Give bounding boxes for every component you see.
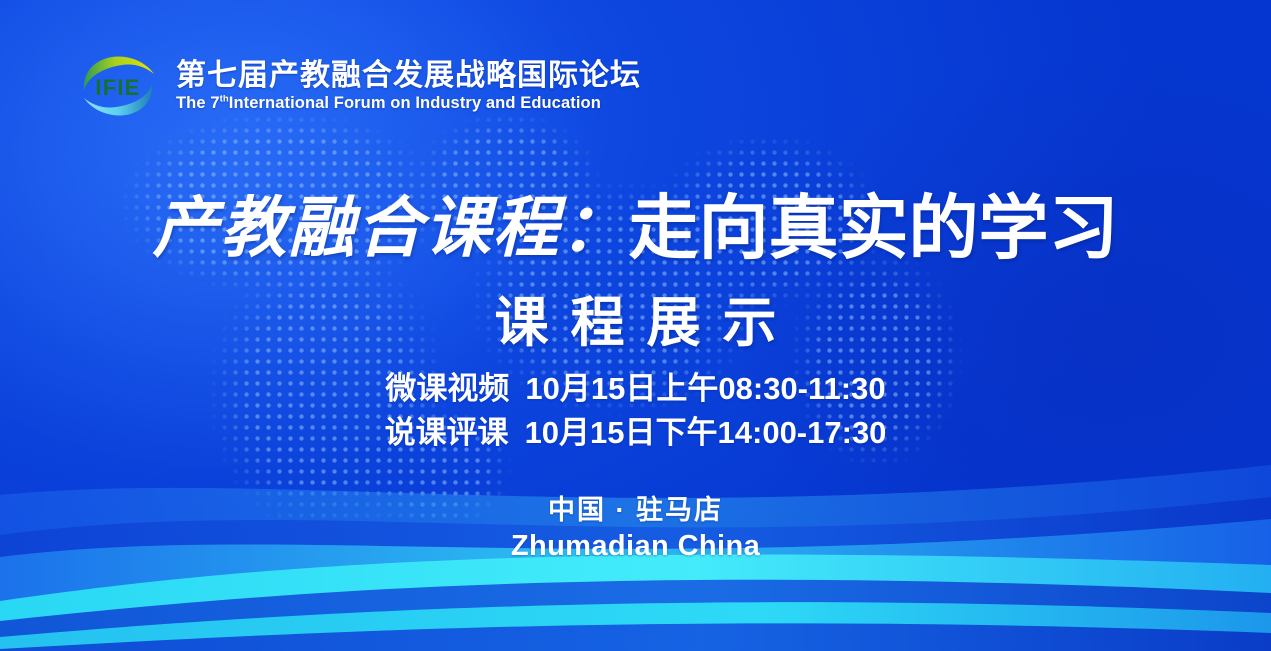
ifie-circular-swoosh-logo-icon: IFIE [74, 50, 162, 122]
forum-title-en-rest: International Forum on Industry and Educ… [229, 94, 601, 112]
forum-header-text: 第七届产教融合发展战略国际论坛 The 7thInternational For… [176, 60, 641, 113]
main-title-brush-part: 产教融合课程： [153, 189, 629, 267]
forum-poster: IFIE 第七届产教融合发展战略国际论坛 The 7thInternationa… [0, 0, 1271, 651]
location-block: 中国 · 驻马店 Zhumadian China [0, 492, 1271, 566]
forum-title-cn: 第七届产教融合发展战略国际论坛 [176, 60, 641, 92]
main-title: 产教融合课程：走向真实的学习 [0, 172, 1271, 273]
forum-title-en: The 7thInternational Forum on Industry a… [176, 94, 641, 112]
ifie-wordmark: IFIE [95, 75, 140, 100]
location-en: Zhumadian China [0, 528, 1271, 566]
schedule-label: 说课评课 [385, 415, 509, 450]
forum-header: IFIE 第七届产教融合发展战略国际论坛 The 7thInternationa… [74, 50, 641, 122]
main-title-bold-part: 走向真实的学习 [629, 189, 1119, 267]
schedule-row: 说课评课10月15日下午14:00-17:30 [0, 411, 1271, 455]
forum-title-en-prefix: The 7 [176, 94, 220, 112]
main-subtitle: 课程展示 [0, 278, 1271, 357]
main-subtitle-text: 课程展示 [473, 293, 799, 353]
location-cn: 中国 · 驻马店 [0, 492, 1271, 528]
schedule-value: 10月15日下午14:00-17:30 [525, 415, 887, 450]
schedule-value: 10月15日上午08:30-11:30 [525, 371, 885, 406]
schedule-row: 微课视频10月15日上午08:30-11:30 [0, 367, 1271, 411]
schedule-label: 微课视频 [385, 371, 509, 406]
ifie-logo: IFIE [74, 50, 162, 122]
forum-title-en-ordinal: th [220, 94, 229, 105]
schedule-block: 微课视频10月15日上午08:30-11:30 说课评课10月15日下午14:0… [0, 367, 1271, 455]
